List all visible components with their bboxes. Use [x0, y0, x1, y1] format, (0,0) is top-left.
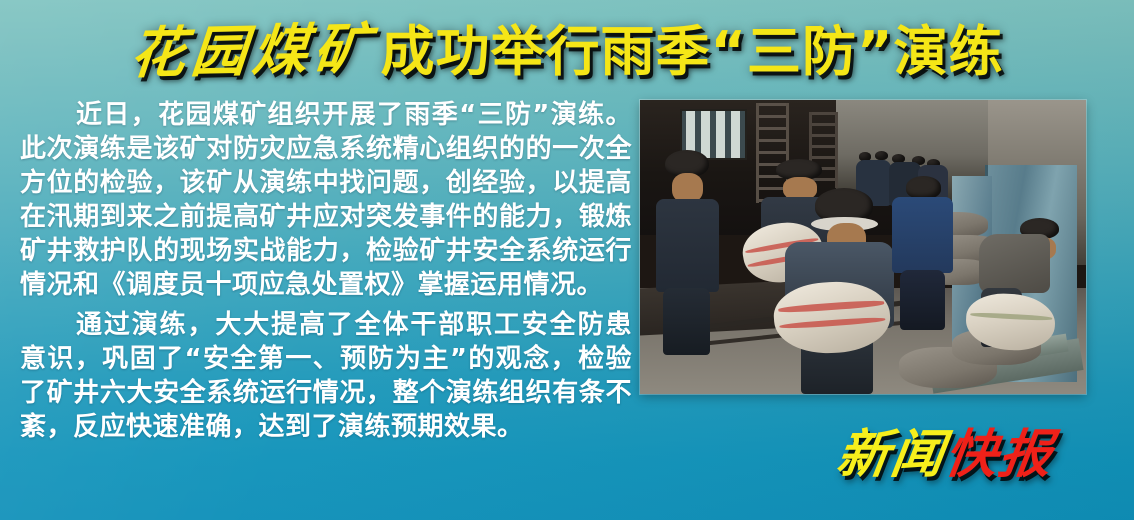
- article-body: 近日，花园煤矿组织开展了雨季“三防”演练。此次演练是该矿对防灾应急系统精心组织的…: [20, 98, 632, 450]
- article-paragraph-1: 近日，花园煤矿组织开展了雨季“三防”演练。此次演练是该矿对防灾应急系统精心组织的…: [20, 98, 632, 302]
- news-flash-logo: 新闻快报: [833, 412, 1060, 487]
- photo-worker-left: [653, 150, 724, 362]
- article-paragraph-2: 通过演练，大大提高了全体干部职工安全防患意识，巩固了“安全第一、预防为主”的观念…: [20, 308, 632, 444]
- poster-title: 花园煤矿 成功举行雨季“三防”演练: [0, 6, 1134, 86]
- photo-worker-blue-jacket: [890, 176, 957, 335]
- news-photo: [640, 100, 1086, 394]
- title-brush-part: 花园煤矿: [127, 3, 378, 88]
- news-flash-logo-yellow: 新闻: [833, 425, 949, 485]
- news-poster: 花园煤矿 成功举行雨季“三防”演练 近日，花园煤矿组织开展了雨季“三防”演练。此…: [0, 0, 1134, 520]
- photo-scene: [640, 100, 1086, 394]
- title-bold-part: 成功举行雨季“三防”演练: [381, 7, 1004, 86]
- news-flash-logo-red: 快报: [941, 425, 1057, 485]
